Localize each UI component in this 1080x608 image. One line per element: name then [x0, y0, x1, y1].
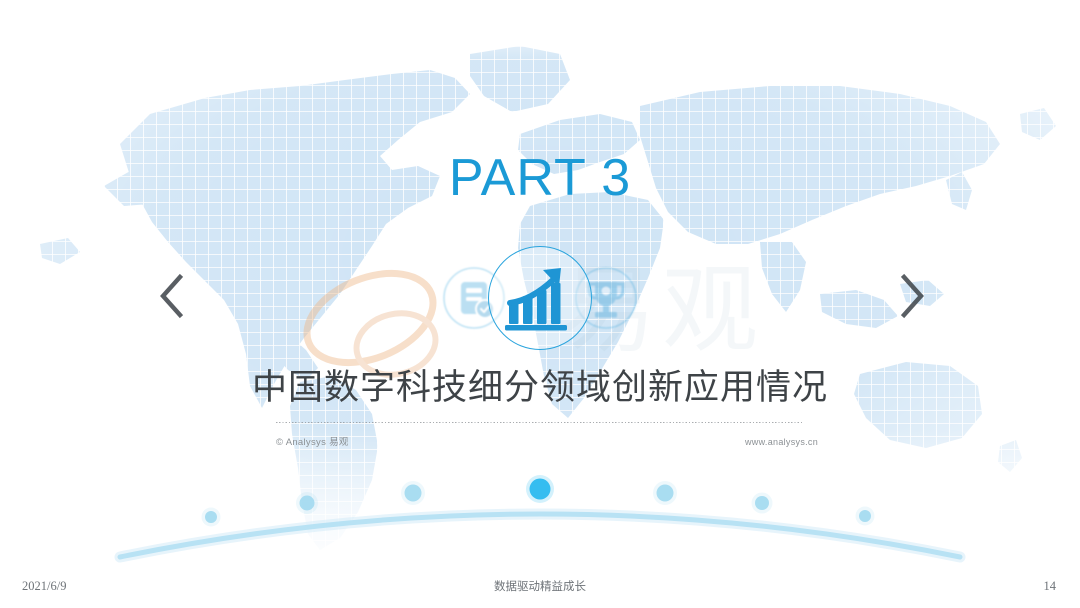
arc-timeline: [0, 455, 1080, 565]
bar-chart-growth-icon: [503, 263, 577, 333]
arc-dot[interactable]: [859, 510, 871, 522]
arc-dot[interactable]: [300, 496, 315, 511]
website-url: www.analysys.cn: [745, 437, 818, 447]
slide-footer: 2021/6/9 数据驱动精益成长 14: [0, 564, 1080, 608]
slide-root: 易观 PART 3: [0, 0, 1080, 608]
title-divider: [276, 422, 804, 423]
arc-dot-active[interactable]: [530, 479, 551, 500]
arc-line-group: [120, 514, 960, 557]
arc-dot[interactable]: [405, 485, 422, 502]
arc-dot[interactable]: [755, 496, 769, 510]
footer-slogan: 数据驱动精益成长: [0, 578, 1080, 594]
arc-dot[interactable]: [205, 511, 217, 523]
section-icon-cluster: [0, 228, 1080, 368]
bar-chart-growth-icon-wrap: [488, 246, 592, 350]
map-top-fade: [0, 0, 1080, 60]
page-title: 中国数字科技细分领域创新应用情况: [0, 368, 1080, 408]
footer-page-number: 14: [1044, 579, 1057, 594]
page-part-label: PART 3: [0, 152, 1080, 204]
arc-line-glow: [120, 514, 960, 557]
copyright-credit: © Analysys 易观: [276, 434, 349, 448]
arc-dot[interactable]: [657, 485, 674, 502]
